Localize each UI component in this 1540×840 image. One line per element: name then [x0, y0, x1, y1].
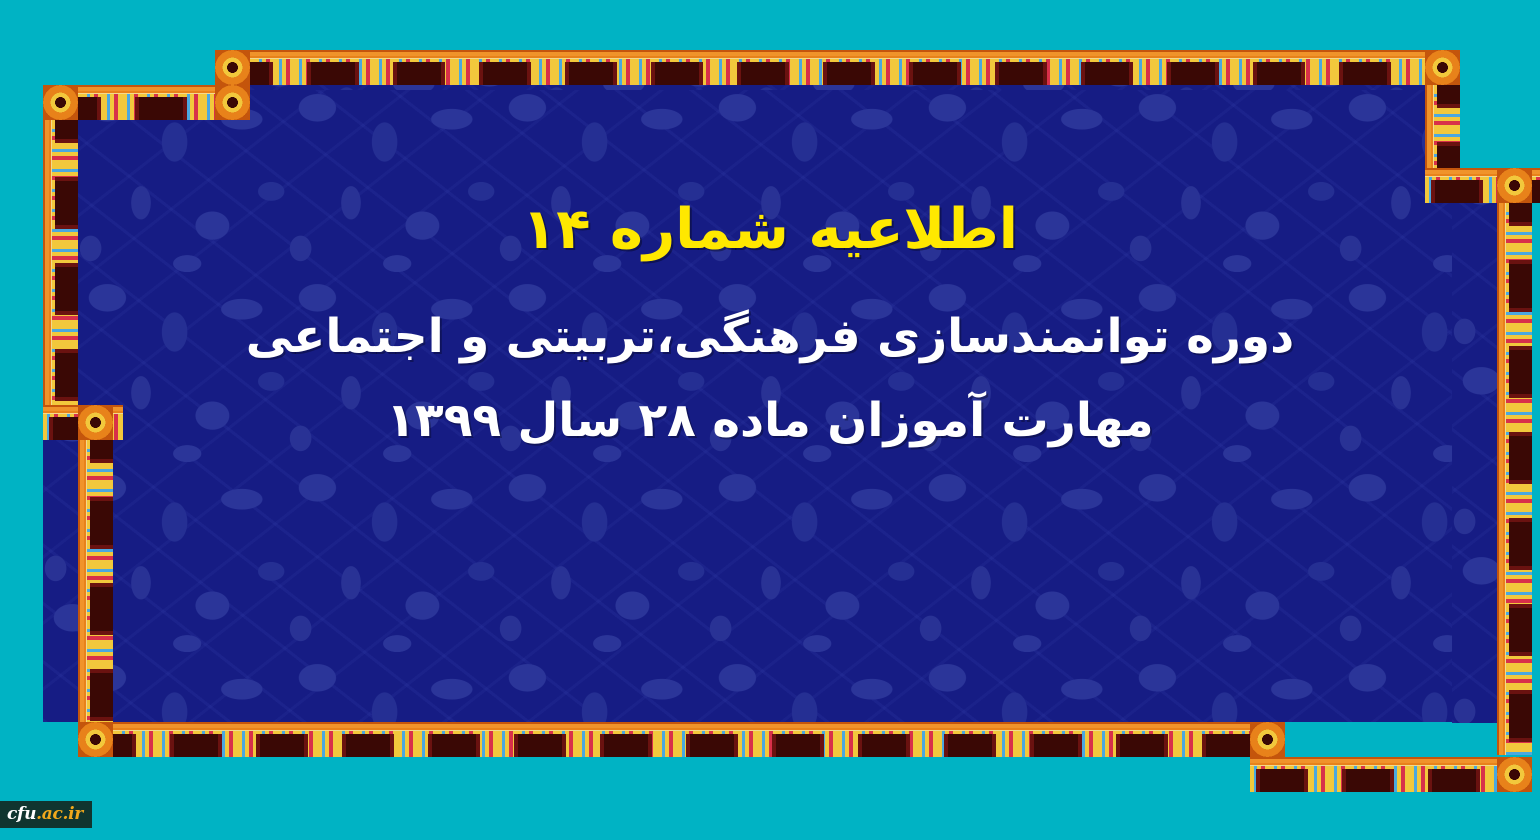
frame-corner-bottom-left [78, 722, 113, 757]
frame-corner-top-left [43, 85, 78, 120]
page-title: اطلاعیه شماره ۱۴ [0, 195, 1540, 265]
subtitle-line-2: مهارت آموزان ماده ۲۸ سال ۱۳۹۹ [0, 387, 1540, 455]
frame-corner-bottom-step [1250, 722, 1285, 757]
poster-text-block: اطلاعیه شماره ۱۴ دوره توانمندسازی فرهنگی… [0, 195, 1540, 455]
frame-corner-top-right [1425, 50, 1460, 85]
subtitle-line-1: دوره توانمندسازی فرهنگی،تربیتی و اجتماعی [0, 303, 1540, 371]
watermark-suffix: .ac.ir [36, 804, 83, 824]
frame-band-top-upper [215, 50, 1460, 85]
watermark-prefix: cfu [7, 804, 36, 824]
frame-band-left-lower [78, 405, 113, 755]
announcement-poster: اطلاعیه شماره ۱۴ دوره توانمندسازی فرهنگی… [0, 0, 1540, 840]
frame-corner-bottom-right [1497, 757, 1532, 792]
frame-corner-top-step-outer [215, 50, 250, 85]
frame-corner-top-step-inner [215, 85, 250, 120]
frame-band-bottom-right [1250, 757, 1532, 792]
frame-band-bottom-left [78, 722, 1285, 757]
site-watermark: cfu.ac.ir [0, 801, 92, 828]
